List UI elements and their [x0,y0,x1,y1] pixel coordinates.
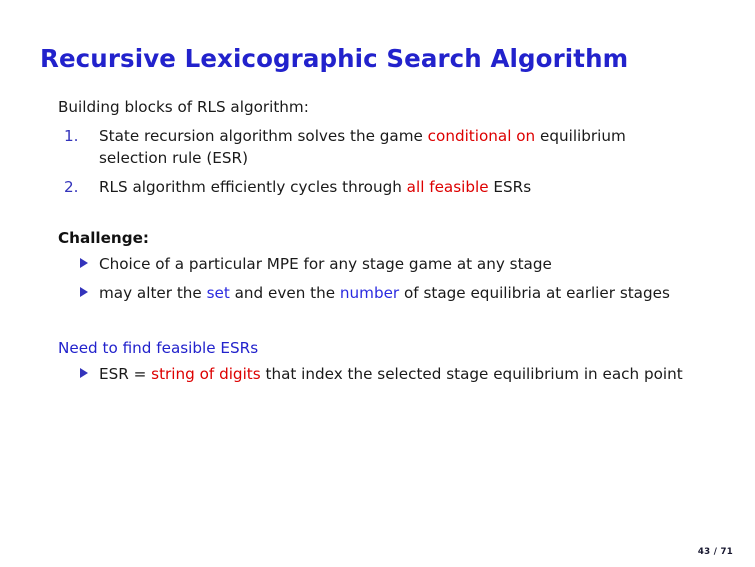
enumerated-item-text: RLS algorithm efficiently cycles through… [99,178,531,196]
enumerated-marker: 2. [64,176,90,198]
emphasis-blue: set [207,284,230,302]
text-run: that index the selected stage equilibriu… [261,365,683,383]
emphasis-red: all feasible [407,178,489,196]
enumerated-marker: 1. [64,125,90,147]
lead-line: Building blocks of RLS algorithm: [0,96,755,119]
slide-body: Building blocks of RLS algorithm: 1. Sta… [0,96,755,392]
triangle-right-icon [80,368,88,378]
triangle-right-icon [80,287,88,297]
text-run: State recursion algorithm solves the gam… [99,127,428,145]
spacer [0,205,755,227]
enumerated-item-text: State recursion algorithm solves the gam… [99,127,626,167]
triangle-right-icon [80,258,88,268]
challenge-heading: Challenge: [0,227,755,249]
text-run: of stage equilibria at earlier stages [399,284,670,302]
emphasis-red: conditional on [428,127,536,145]
page-number: 43 / 71 [698,547,733,557]
emphasis-red: string of digits [151,365,260,383]
bullet-item-text: Choice of a particular MPE for any stage… [99,255,552,273]
text-run: ESR = [99,365,151,383]
need-heading: Need to find feasible ESRs [0,337,755,359]
bullet-list-item: Choice of a particular MPE for any stage… [0,253,755,275]
text-run: ESRs [489,178,532,196]
spacer [0,311,755,337]
text-run: RLS algorithm efficiently cycles through [99,178,407,196]
presentation-slide: Recursive Lexicographic Search Algorithm… [0,0,755,567]
enumerated-list: 1. State recursion algorithm solves the … [0,125,755,198]
bullet-list-item: may alter the set and even the number of… [0,282,755,304]
text-run: and even the [230,284,340,302]
text-run: may alter the [99,284,207,302]
enumerated-item: 1. State recursion algorithm solves the … [0,125,755,169]
bullet-item-text: ESR = string of digits that index the se… [99,365,683,383]
bullet-list-item: ESR = string of digits that index the se… [0,363,755,385]
text-run: Choice of a particular MPE for any stage… [99,255,552,273]
enumerated-item: 2. RLS algorithm efficiently cycles thro… [0,176,755,198]
bullet-item-text: may alter the set and even the number of… [99,284,670,302]
challenge-bullet-list: Choice of a particular MPE for any stage… [0,253,755,304]
emphasis-blue: number [340,284,399,302]
slide-title: Recursive Lexicographic Search Algorithm [40,45,628,73]
need-bullet-list: ESR = string of digits that index the se… [0,363,755,385]
